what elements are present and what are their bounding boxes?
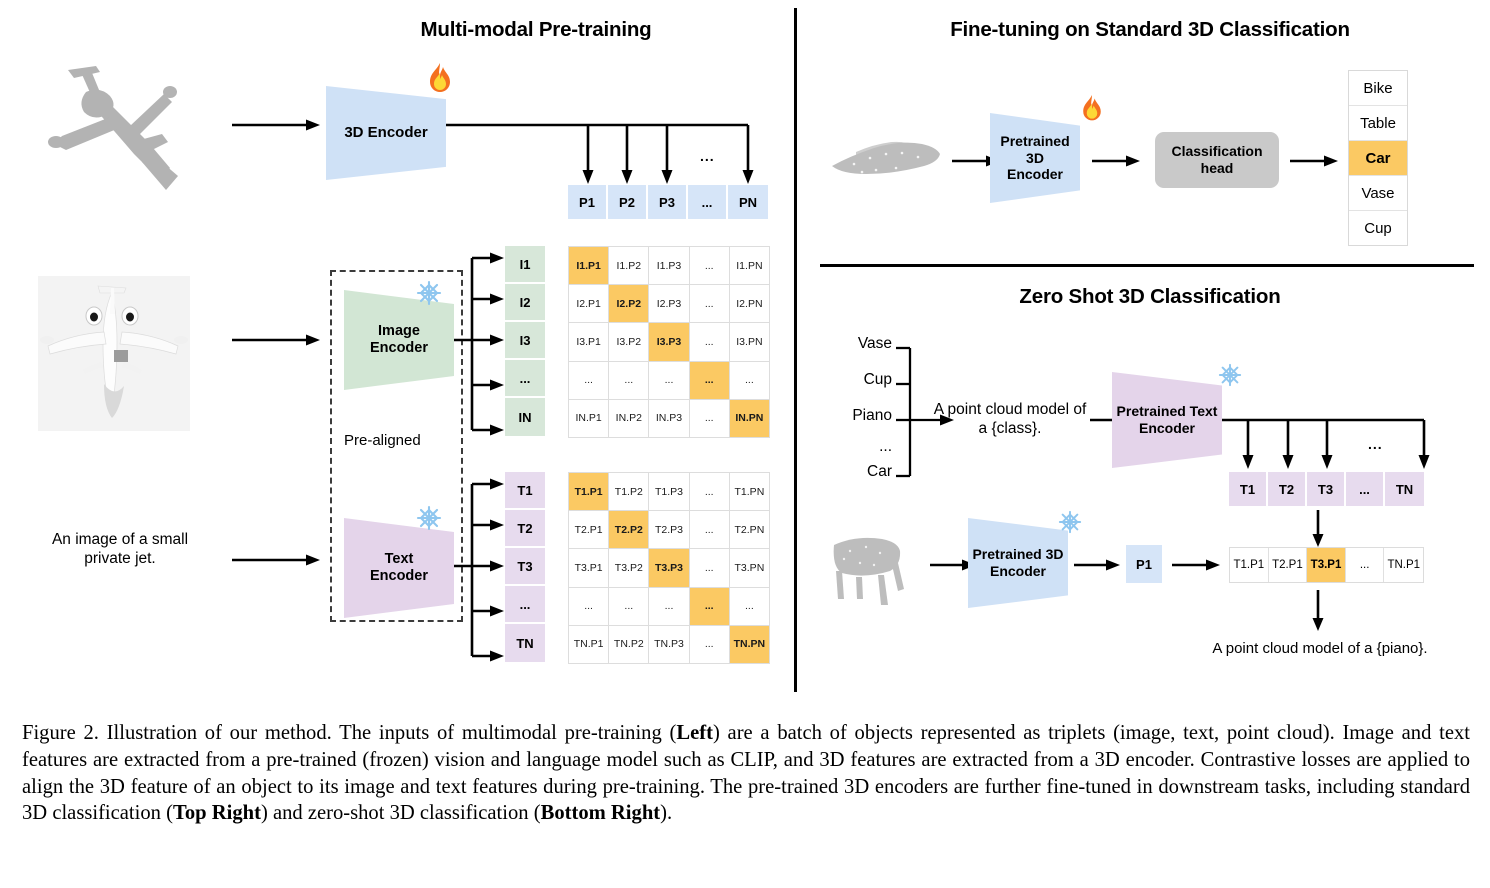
p-token-row: P1 P2 P3 ... PN [568, 185, 768, 219]
class-prediction-row[interactable]: Cup [1349, 211, 1407, 245]
p-token-chip[interactable]: P2 [608, 185, 648, 219]
zeroshot-t-token-chip[interactable]: T3 [1307, 472, 1346, 506]
zeroshot-score-cell: T3.P1 [1307, 548, 1346, 582]
zeroshot-class-item: Cup [826, 371, 892, 389]
zeroshot-t-token-chip[interactable]: ... [1346, 472, 1385, 506]
class-prediction-row[interactable]: Bike [1349, 71, 1407, 106]
similarity-cell: I3.PN [730, 323, 769, 360]
pretrained-text-encoder-box[interactable]: Pretrained Text Encoder [1112, 372, 1222, 468]
t-bus-ellipsis: ... [1368, 436, 1383, 452]
panel-vertical-divider [794, 8, 797, 692]
pretrained-3d-encoder-box-zeroshot[interactable]: Pretrained 3D Encoder [968, 518, 1068, 608]
zeroshot-score-cell: ... [1346, 548, 1385, 582]
car-point-cloud [826, 128, 946, 190]
arrow-p1-to-scores [1172, 558, 1222, 572]
classification-head-line1: Classification [1171, 143, 1262, 159]
similarity-cell: I1.PN [730, 247, 769, 284]
similarity-cell: ... [609, 362, 648, 399]
similarity-cell: ... [690, 362, 729, 399]
similarity-cell: ... [690, 588, 729, 625]
zeroshot-class-item: Car [826, 463, 892, 481]
similarity-cell: T3.P3 [649, 549, 688, 586]
arrow-encoder-to-p1 [1074, 558, 1122, 572]
similarity-cell: ... [690, 626, 729, 663]
zeroshot-result-text: A point cloud model of a {piano}. [1180, 640, 1460, 657]
piano-point-cloud [826, 525, 921, 620]
similarity-cell: I2.P1 [569, 285, 608, 322]
pre-aligned-label: Pre-aligned [344, 432, 421, 449]
image-encoder-label-line2: Encoder [370, 340, 428, 356]
p-token-chip[interactable]: P3 [648, 185, 688, 219]
pretrained-text-encoder-line1: Pretrained Text [1117, 403, 1218, 419]
arrow-pointcloud-to-3d-encoder [232, 118, 322, 132]
classification-head-line2: head [1201, 160, 1234, 176]
zeroshot-class-item: ... [826, 438, 892, 456]
similarity-cell: ... [649, 588, 688, 625]
similarity-cell: T2.P3 [649, 511, 688, 548]
pretrained-3d-encoder-line2: Encoder [1007, 166, 1063, 182]
pretrained-text-encoder-line2: Encoder [1139, 420, 1195, 436]
i-token-cell[interactable]: I3 [505, 322, 545, 360]
image-point-similarity-matrix: I1.P1I1.P2I1.P3...I1.PNI2.P1I2.P2I2.P3..… [568, 246, 770, 438]
t-token-cell[interactable]: T3 [505, 548, 545, 586]
similarity-cell: T3.PN [730, 549, 769, 586]
image-token-fanout [454, 252, 506, 436]
zeroshot-p1-chip[interactable]: P1 [1126, 545, 1164, 583]
bottom-right-panel-title: Zero Shot 3D Classification [830, 285, 1470, 309]
classification-head-box[interactable]: Classification head [1155, 132, 1279, 188]
prompt-template: A point cloud model of a {class}. [910, 400, 1110, 439]
zeroshot-3d-encoder-line1: Pretrained 3D [972, 546, 1063, 562]
panel-horizontal-divider [820, 264, 1474, 267]
arrow-image-to-image-encoder [232, 333, 322, 347]
snowflake-icon [416, 505, 442, 531]
text-token-fanout [454, 478, 506, 662]
similarity-cell: T1.P3 [649, 473, 688, 510]
similarity-cell: TN.P3 [649, 626, 688, 663]
t-token-cell[interactable]: ... [505, 586, 545, 624]
similarity-cell: ... [649, 362, 688, 399]
similarity-cell: I2.P3 [649, 285, 688, 322]
class-prediction-row[interactable]: Table [1349, 106, 1407, 141]
class-prediction-row[interactable]: Car [1349, 141, 1407, 176]
fire-icon [1078, 94, 1106, 124]
text-input-line: An image of a small private jet. [52, 531, 188, 567]
zeroshot-score-cell: T1.P1 [1230, 548, 1269, 582]
figure-caption: Figure 2. Illustration of our method. Th… [22, 720, 1470, 827]
similarity-cell: T1.P2 [609, 473, 648, 510]
text-point-similarity-matrix: T1.P1T1.P2T1.P3...T1.PNT2.P1T2.P2T2.P3..… [568, 472, 770, 664]
fire-icon [424, 62, 456, 96]
prompt-template-line2: a {class}. [979, 420, 1042, 437]
3d-encoder-label: 3D Encoder [344, 124, 427, 142]
text-encoder-label-line1: Text [385, 551, 414, 567]
zeroshot-t-token-chip[interactable]: T1 [1229, 472, 1268, 506]
similarity-cell: IN.P1 [569, 400, 608, 437]
similarity-cell: ... [690, 247, 729, 284]
similarity-cell: IN.P2 [609, 400, 648, 437]
text-encoder-label-line2: Encoder [370, 568, 428, 584]
p-bus-ellipsis: ... [700, 148, 715, 164]
zeroshot-t-token-chip[interactable]: TN [1385, 472, 1424, 506]
similarity-cell: T2.P2 [609, 511, 648, 548]
t-token-column: T1 T2 T3 ... TN [505, 472, 545, 662]
p-token-chip[interactable]: PN [728, 185, 768, 219]
zeroshot-class-item: Piano [826, 407, 892, 425]
airplane-point-cloud [20, 48, 220, 208]
similarity-cell: ... [569, 588, 608, 625]
arrow-scores-to-result [1311, 590, 1325, 632]
similarity-cell: I3.P2 [609, 323, 648, 360]
similarity-cell: I3.P1 [569, 323, 608, 360]
similarity-cell: I2.PN [730, 285, 769, 322]
snowflake-icon [1218, 363, 1242, 387]
p-token-chip[interactable]: P1 [568, 185, 608, 219]
similarity-cell: ... [690, 473, 729, 510]
similarity-cell: ... [690, 549, 729, 586]
i-token-cell[interactable]: ... [505, 360, 545, 398]
t-token-cell[interactable]: T2 [505, 510, 545, 548]
similarity-cell: ... [690, 400, 729, 437]
arrow-head-to-classes [1290, 154, 1340, 168]
zeroshot-score-row: T1.P1T2.P1T3.P1...TN.P1 [1229, 547, 1424, 583]
left-panel-title: Multi-modal Pre-training [286, 18, 786, 42]
similarity-cell: T2.PN [730, 511, 769, 548]
similarity-cell: I3.P3 [649, 323, 688, 360]
class-prediction-list: BikeTableCarVaseCup [1348, 70, 1408, 246]
similarity-cell: ... [569, 362, 608, 399]
3d-encoder-box[interactable]: 3D Encoder [326, 86, 446, 180]
t-token-distribution-bus [1222, 413, 1432, 475]
zeroshot-3d-encoder-line2: Encoder [990, 563, 1046, 579]
similarity-cell: I2.P2 [609, 285, 648, 322]
similarity-cell: I1.P3 [649, 247, 688, 284]
zeroshot-class-list: Vase Cup Piano ... Car [826, 335, 892, 480]
prompt-template-line1: A point cloud model of [934, 401, 1087, 418]
pretrained-3d-encoder-box-finetune[interactable]: Pretrained 3D Encoder [990, 113, 1080, 203]
zeroshot-score-cell: T2.P1 [1269, 548, 1308, 582]
similarity-cell: ... [690, 323, 729, 360]
similarity-cell: T3.P1 [569, 549, 608, 586]
top-right-panel-title: Fine-tuning on Standard 3D Classificatio… [830, 18, 1470, 42]
similarity-cell: ... [730, 588, 769, 625]
pretrained-3d-encoder-line1: Pretrained 3D [1000, 133, 1069, 166]
similarity-cell: IN.P3 [649, 400, 688, 437]
similarity-cell: T3.P2 [609, 549, 648, 586]
similarity-cell: T1.P1 [569, 473, 608, 510]
i-token-cell[interactable]: IN [505, 398, 545, 436]
similarity-cell: T2.P1 [569, 511, 608, 548]
arrow-encoder-to-head [1092, 154, 1142, 168]
private-jet-render [38, 276, 190, 431]
similarity-cell: I1.P1 [569, 247, 608, 284]
i-token-column: I1 I2 I3 ... IN [505, 246, 545, 436]
t-token-cell[interactable]: TN [505, 624, 545, 662]
arrow-text-to-text-encoder [232, 553, 322, 567]
i-token-cell[interactable]: I1 [505, 246, 545, 284]
t-token-cell[interactable]: T1 [505, 472, 545, 510]
arrow-t-tokens-to-scores [1311, 510, 1325, 548]
image-encoder-label-line1: Image [378, 323, 420, 339]
p-token-chip[interactable]: ... [688, 185, 728, 219]
zeroshot-score-cell: TN.P1 [1384, 548, 1423, 582]
text-encoder-box[interactable]: Text Encoder [344, 518, 454, 618]
similarity-cell: IN.PN [730, 400, 769, 437]
snowflake-icon [416, 280, 442, 306]
zeroshot-t-token-row: T1 T2 T3 ... TN [1229, 472, 1424, 506]
snowflake-icon [1058, 510, 1082, 534]
similarity-cell: TN.P1 [569, 626, 608, 663]
similarity-cell: I1.P2 [609, 247, 648, 284]
i-token-cell[interactable]: I2 [505, 284, 545, 322]
similarity-cell: ... [609, 588, 648, 625]
similarity-cell: TN.PN [730, 626, 769, 663]
text-input-prompt: An image of a small private jet. [32, 530, 208, 569]
zeroshot-t-token-chip[interactable]: T2 [1268, 472, 1307, 506]
similarity-cell: ... [730, 362, 769, 399]
similarity-cell: ... [690, 511, 729, 548]
similarity-cell: T1.PN [730, 473, 769, 510]
zeroshot-class-item: Vase [826, 335, 892, 353]
similarity-cell: ... [690, 285, 729, 322]
class-prediction-row[interactable]: Vase [1349, 176, 1407, 211]
similarity-cell: TN.P2 [609, 626, 648, 663]
